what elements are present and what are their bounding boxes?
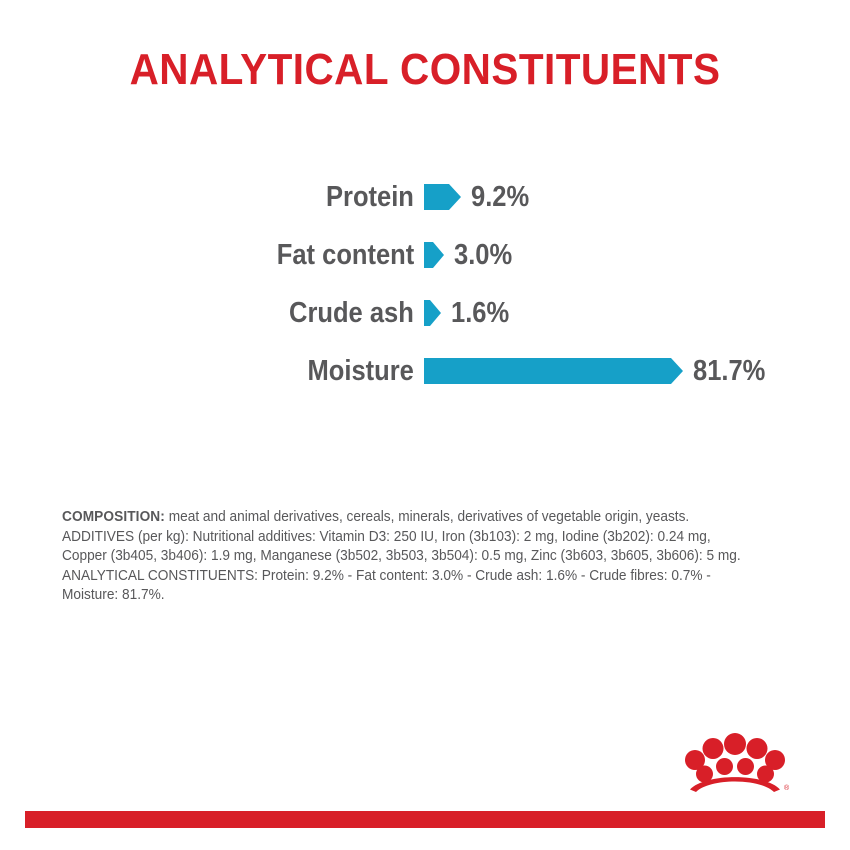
registered-trademark-mark: ® [784,784,790,792]
bottom-red-bar [25,811,825,828]
chart-row-value: 9.2% [471,181,529,213]
composition-line-4: ANALYTICAL CONSTITUENTS: Protein: 9.2% -… [62,567,765,587]
page-title: ANALYTICAL CONSTITUENTS [34,44,816,96]
composition-line-1-rest: meat and animal derivatives, cereals, mi… [165,509,689,525]
chart-bar-wrap [424,300,441,326]
chart-row-value: 81.7% [693,355,765,387]
composition-lead-label: COMPOSITION: [62,509,165,525]
composition-line-1: COMPOSITION: meat and animal derivatives… [62,508,765,528]
chart-bar-fat-content [424,242,444,268]
chart-row-value: 3.0% [454,239,512,271]
chart-row-label: Moisture [308,355,414,387]
analytical-constituents-chart: Protein 9.2% Fat content 3.0% Crude ash … [0,168,850,400]
royal-canin-crown-logo: ® [679,731,791,793]
chart-bar-wrap [424,184,461,210]
chart-bar-protein [424,184,461,210]
chart-row-moisture: Moisture 81.7% [0,342,850,400]
composition-line-2: ADDITIVES (per kg): Nutritional additive… [62,528,765,548]
chart-row-fat-content: Fat content 3.0% [0,226,850,284]
chart-row-protein: Protein 9.2% [0,168,850,226]
chart-row-label: Crude ash [289,297,414,329]
chart-row-label: Protein [326,181,414,213]
chart-row-value: 1.6% [451,297,509,329]
chart-bar-crude-ash [424,300,441,326]
composition-text-block: COMPOSITION: meat and animal derivatives… [62,508,765,606]
chart-row-label: Fat content [276,239,414,271]
chart-bar-moisture [424,358,683,384]
composition-line-3: Copper (3b405, 3b406): 1.9 mg, Manganese… [62,547,765,567]
composition-line-5: Moisture: 81.7%. [62,586,765,606]
chart-bar-wrap [424,358,683,384]
chart-row-crude-ash: Crude ash 1.6% [0,284,850,342]
analytical-constituents-panel: ANALYTICAL CONSTITUENTS Protein 9.2% Fat… [0,0,850,850]
chart-bar-wrap [424,242,444,268]
